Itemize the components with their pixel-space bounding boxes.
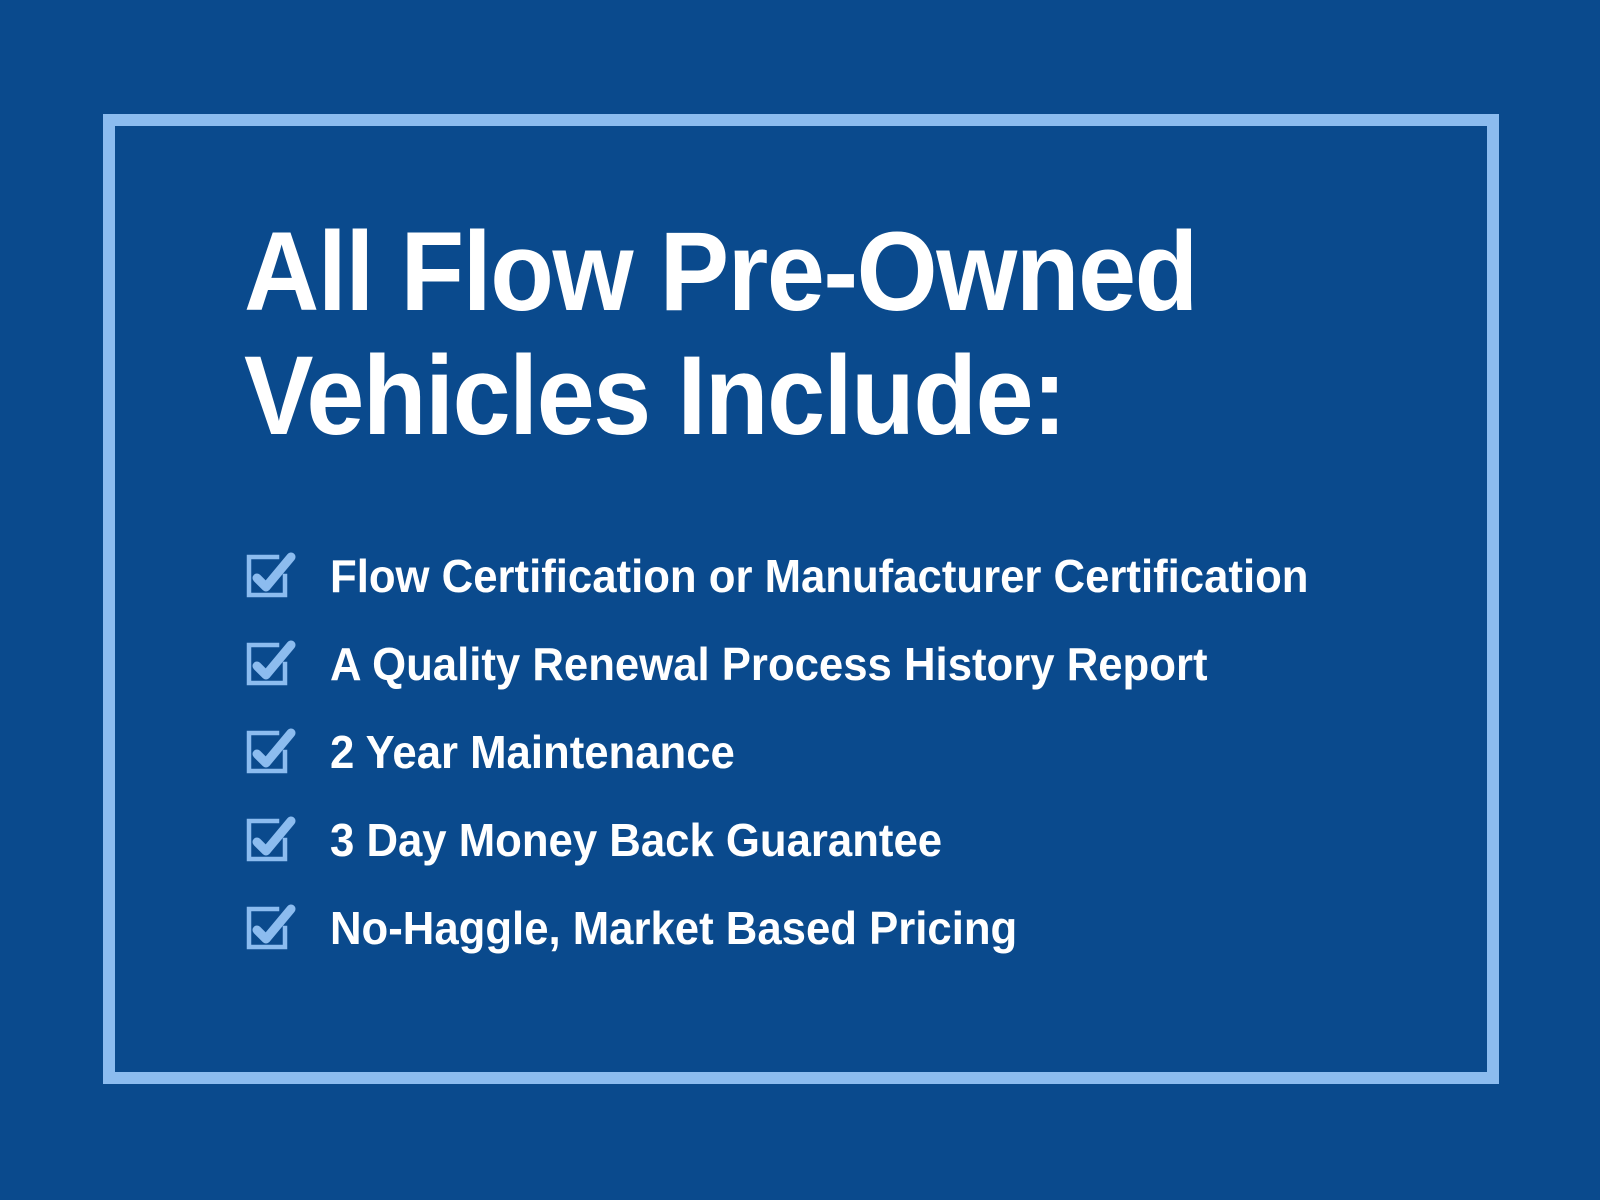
checkbox-checked-icon: [244, 638, 298, 688]
page-title: All Flow Pre-Owned Vehicles Include:: [244, 210, 1444, 458]
list-item: Flow Certification or Manufacturer Certi…: [244, 532, 1484, 620]
list-item: 2 Year Maintenance: [244, 708, 1484, 796]
list-item-label: No-Haggle, Market Based Pricing: [330, 903, 1017, 953]
list-item-label: 2 Year Maintenance: [330, 727, 735, 777]
list-item: 3 Day Money Back Guarantee: [244, 796, 1484, 884]
checkbox-checked-icon: [244, 902, 298, 952]
page-title-line-1: All Flow Pre-Owned: [244, 210, 1360, 334]
list-item: No-Haggle, Market Based Pricing: [244, 884, 1484, 972]
list-item-label: Flow Certification or Manufacturer Certi…: [330, 551, 1309, 601]
list-item: A Quality Renewal Process History Report: [244, 620, 1484, 708]
list-item-label: A Quality Renewal Process History Report: [330, 639, 1208, 689]
checkbox-checked-icon: [244, 814, 298, 864]
page-title-line-2: Vehicles Include:: [244, 334, 1360, 458]
content-frame: All Flow Pre-Owned Vehicles Include: Flo…: [103, 114, 1499, 1084]
benefits-checklist: Flow Certification or Manufacturer Certi…: [244, 532, 1484, 972]
promo-banner: { "colors": { "background": "#0a4a8d", "…: [0, 0, 1600, 1200]
checkbox-checked-icon: [244, 726, 298, 776]
checkbox-checked-icon: [244, 550, 298, 600]
list-item-label: 3 Day Money Back Guarantee: [330, 815, 942, 865]
